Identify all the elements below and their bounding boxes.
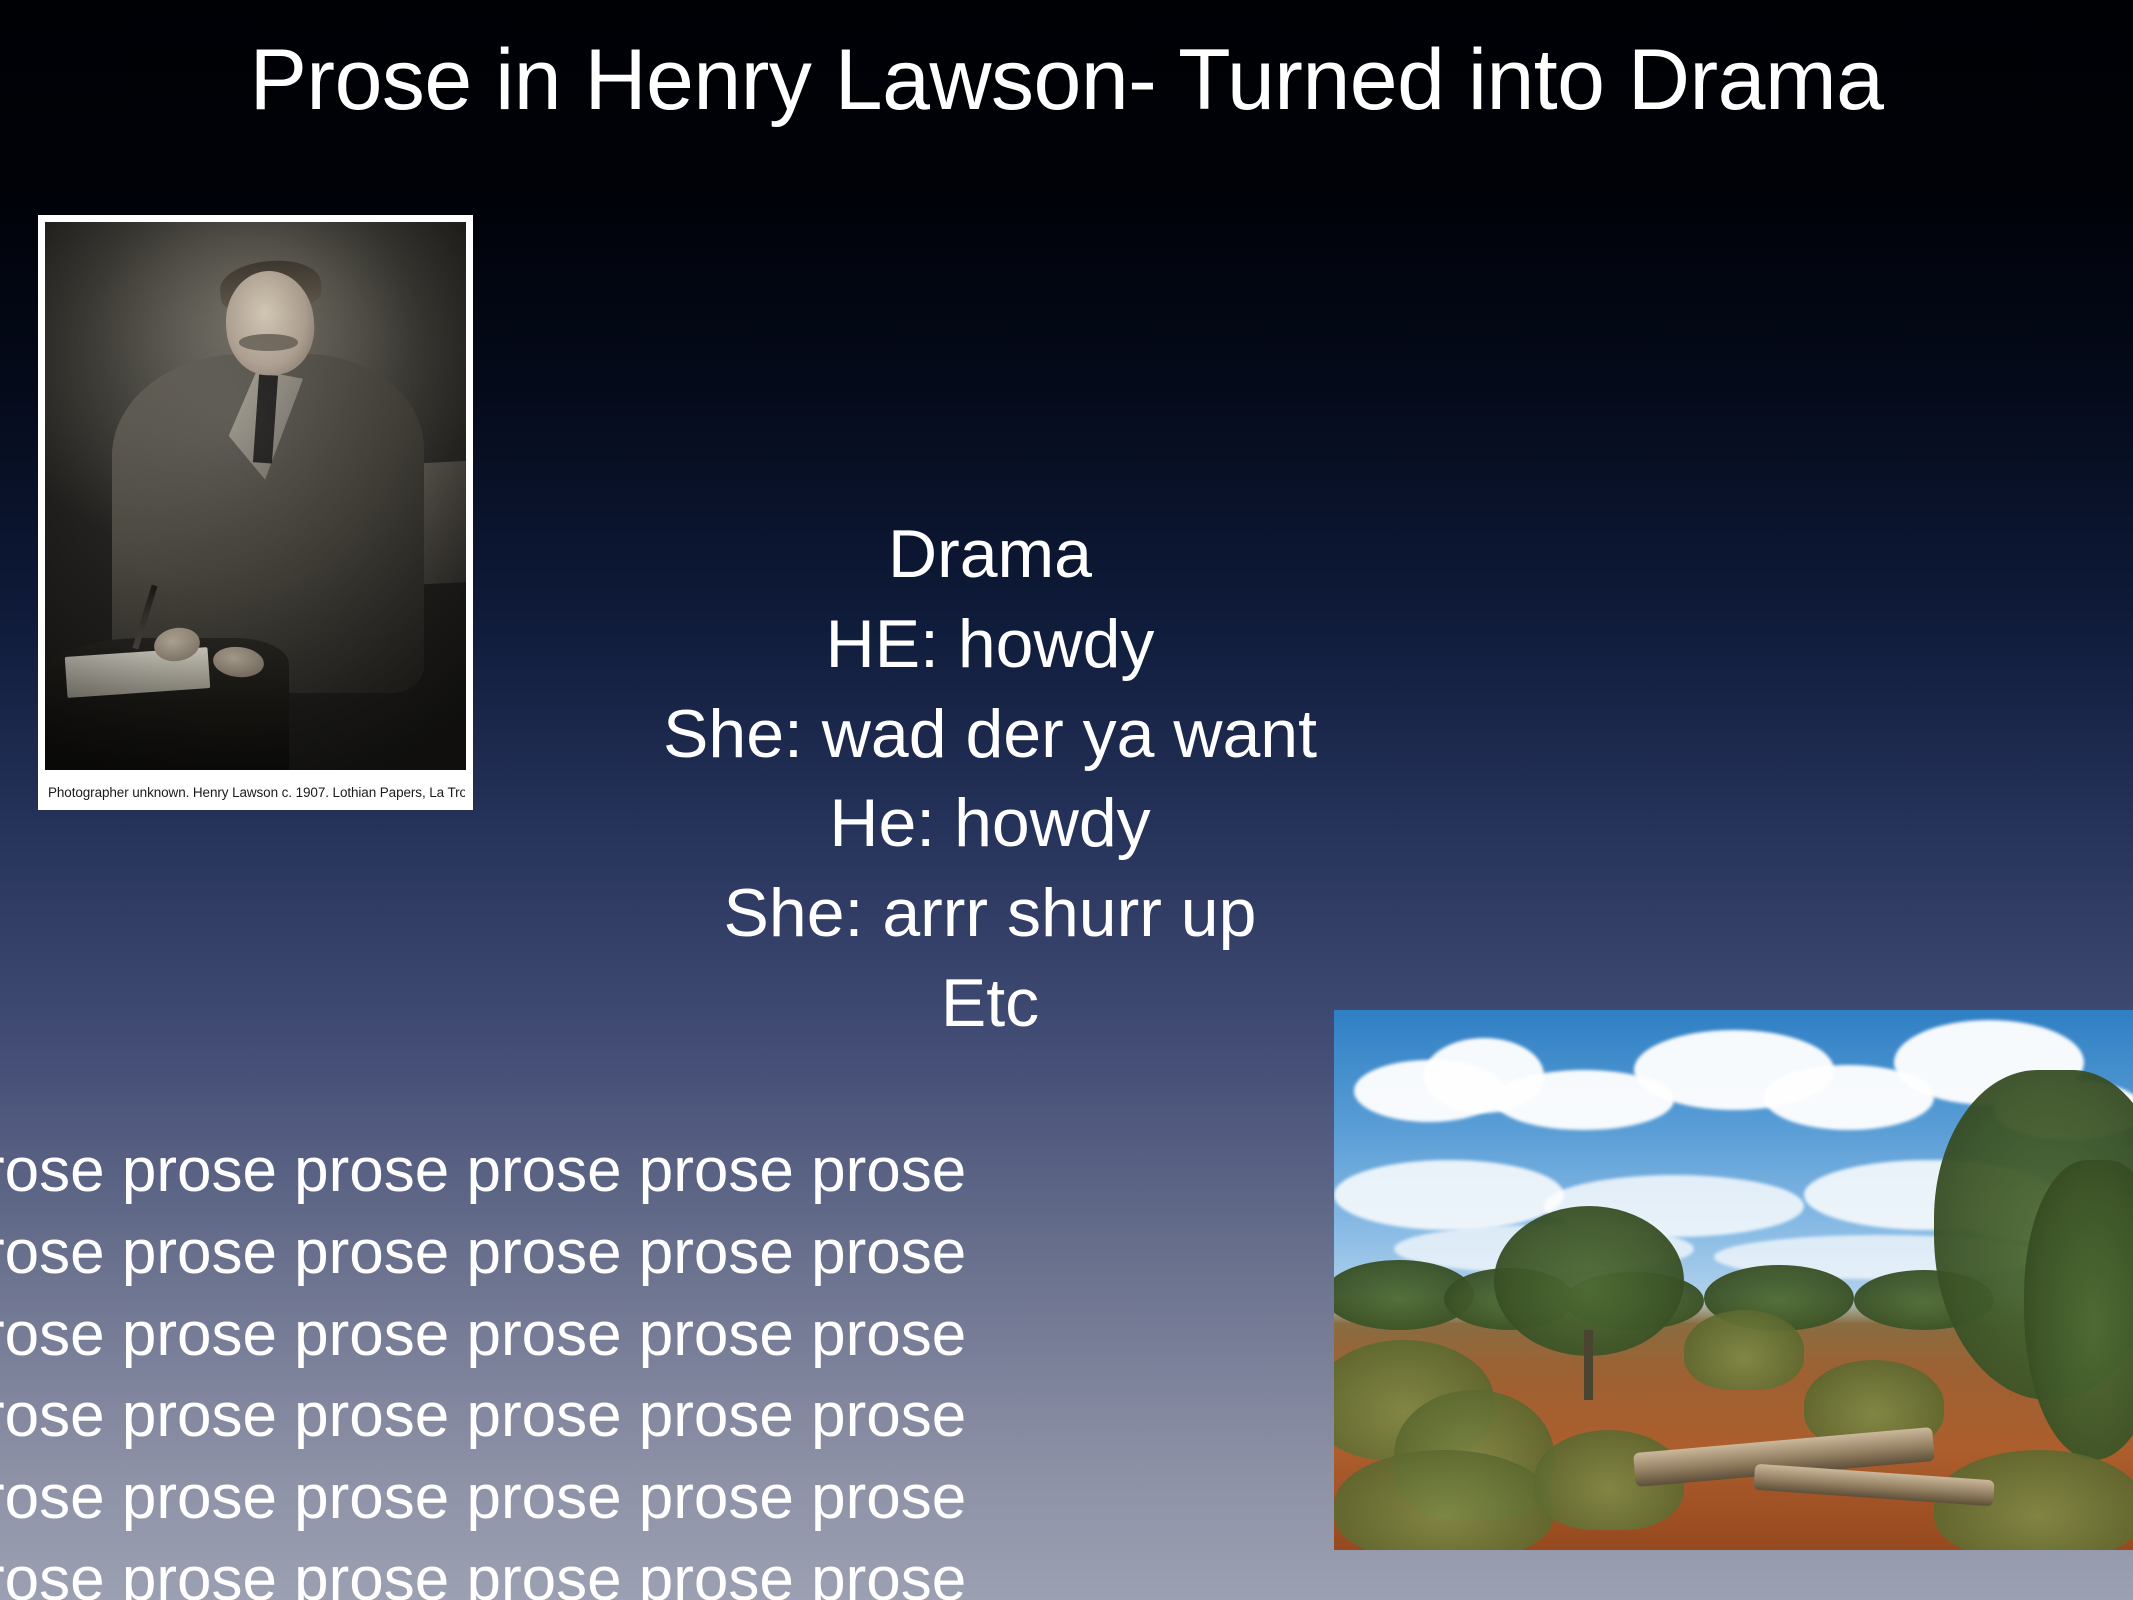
drama-line: He: howdy [480, 779, 1500, 869]
head-shape [222, 268, 317, 378]
moustache-shape [239, 334, 298, 350]
presentation-slide: Prose in Henry Lawson- Turned into Drama… [0, 0, 2133, 1600]
drama-line: Drama [480, 510, 1500, 600]
prose-line: rose prose prose prose prose prose [0, 1212, 944, 1294]
drama-line: She: wad der ya want [480, 690, 1500, 780]
lawson-portrait-photo: Photographer unknown. Henry Lawson c. 19… [38, 215, 473, 810]
photo-caption: Photographer unknown. Henry Lawson c. 19… [48, 785, 465, 801]
paper-shape [65, 647, 211, 698]
prose-line: rose prose prose prose prose prose [0, 1457, 944, 1539]
main-tree-trunk [1584, 1330, 1593, 1400]
tie-shape [252, 375, 277, 464]
drama-line: HE: howdy [480, 600, 1500, 690]
prose-line: rose prose prose prose prose prose [0, 1130, 944, 1212]
prose-line: rose prose prose prose prose prose [0, 1294, 944, 1376]
prose-line: rose prose prose prose prose prose [0, 1375, 944, 1457]
prose-text-block: rose prose prose prose prose prose rose … [0, 1130, 944, 1600]
writing-hand-shape [152, 624, 203, 664]
drama-text-block: Drama HE: howdy She: wad der ya want He:… [480, 510, 1500, 1049]
drama-line: She: arrr shurr up [480, 869, 1500, 959]
resting-hand-shape [212, 644, 265, 679]
prose-line: rose prose prose prose prose prose [0, 1539, 944, 1600]
suit-shape [112, 354, 424, 694]
hair-shape [218, 257, 323, 315]
pen-shape [132, 584, 157, 649]
cloud-shape [1334, 1160, 1564, 1230]
portrait-image-frame [45, 222, 466, 770]
outback-photo [1334, 1010, 2133, 1550]
grass-tuft [1334, 1450, 1554, 1550]
page-title: Prose in Henry Lawson- Turned into Drama [0, 30, 2133, 131]
chair-shape [370, 460, 466, 586]
grass-tuft [1684, 1310, 1804, 1390]
lapel-shape [224, 370, 305, 480]
table-shape [45, 638, 289, 770]
portrait-image [45, 222, 466, 770]
